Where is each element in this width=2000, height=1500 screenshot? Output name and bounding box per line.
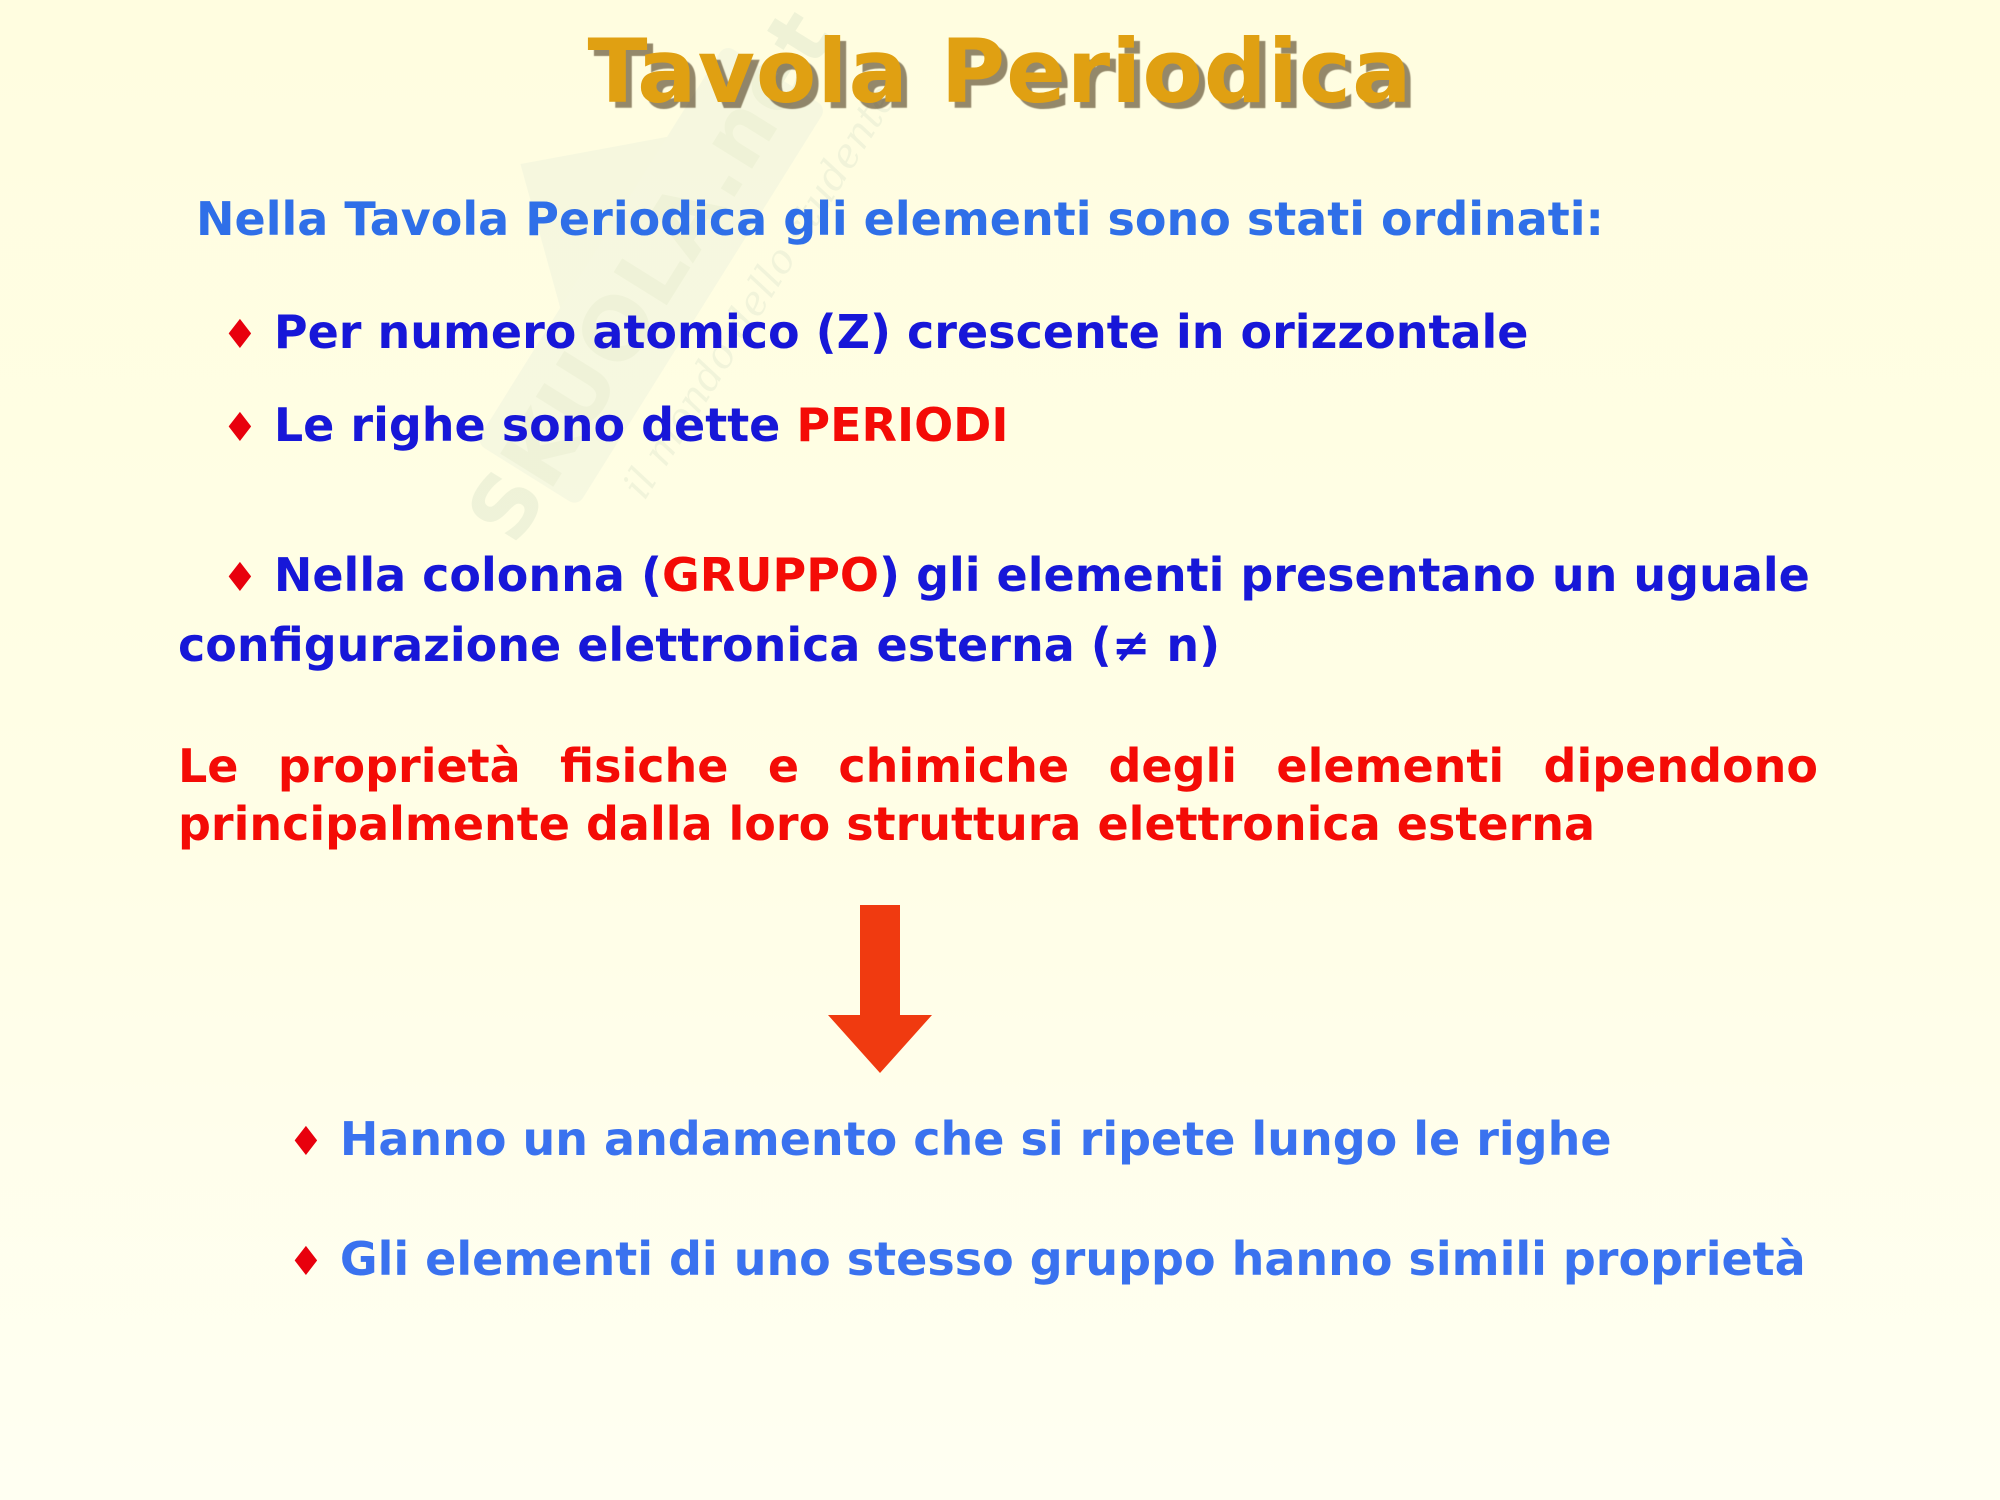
slide-canvas: SKUOLA.net il mondo dello studente Tavol… [0, 0, 2000, 1500]
list-item: ♦ Le righe sono dette PERIODI [222, 398, 1008, 452]
list-item-text-blue-b: ) gli elementi presentano un uguale [879, 548, 1810, 602]
list-item: ♦ Per numero atomico (Z) crescente in or… [222, 305, 1528, 359]
red-paragraph-line-2: principalmente dalla loro struttura elet… [178, 796, 1818, 854]
diamond-bullet-icon: ♦ [222, 315, 258, 355]
list-item-label: Per numero atomico (Z) crescente in oriz… [274, 305, 1529, 359]
list-item: ♦ Hanno un andamento che si ripete lungo… [288, 1112, 1612, 1166]
list-item-label: Le righe sono dette PERIODI [274, 398, 1009, 452]
intro-sentence: Nella Tavola Periodica gli elementi sono… [0, 192, 1800, 246]
diamond-bullet-icon: ♦ [288, 1242, 324, 1282]
list-item-continuation: configurazione elettronica esterna (≠ n) [178, 618, 1220, 672]
keyword-periodi: PERIODI [796, 398, 1008, 452]
list-item: ♦ Gli elementi di uno stesso gruppo hann… [288, 1232, 1806, 1286]
diamond-bullet-icon: ♦ [288, 1122, 324, 1162]
red-paragraph: Le proprietà fisiche e chimiche degli el… [178, 738, 1818, 854]
list-item-label: Nella colonna (GRUPPO) gli elementi pres… [274, 548, 1810, 602]
page-title: Tavola Periodica [0, 28, 2000, 116]
diamond-bullet-icon: ♦ [222, 558, 258, 598]
keyword-gruppo: GRUPPO [662, 548, 879, 602]
red-paragraph-line-1: Le proprietà fisiche e chimiche degli el… [178, 738, 1818, 796]
list-item-text-blue-a: Nella colonna ( [274, 548, 662, 602]
down-arrow-icon [820, 905, 940, 1075]
list-item: ♦ Nella colonna (GRUPPO) gli elementi pr… [222, 548, 1810, 602]
list-item-label: Hanno un andamento che si ripete lungo l… [340, 1112, 1612, 1166]
list-item-text-blue: Le righe sono dette [274, 398, 797, 452]
list-item-label: Gli elementi di uno stesso gruppo hanno … [340, 1232, 1806, 1286]
diamond-bullet-icon: ♦ [222, 408, 258, 448]
